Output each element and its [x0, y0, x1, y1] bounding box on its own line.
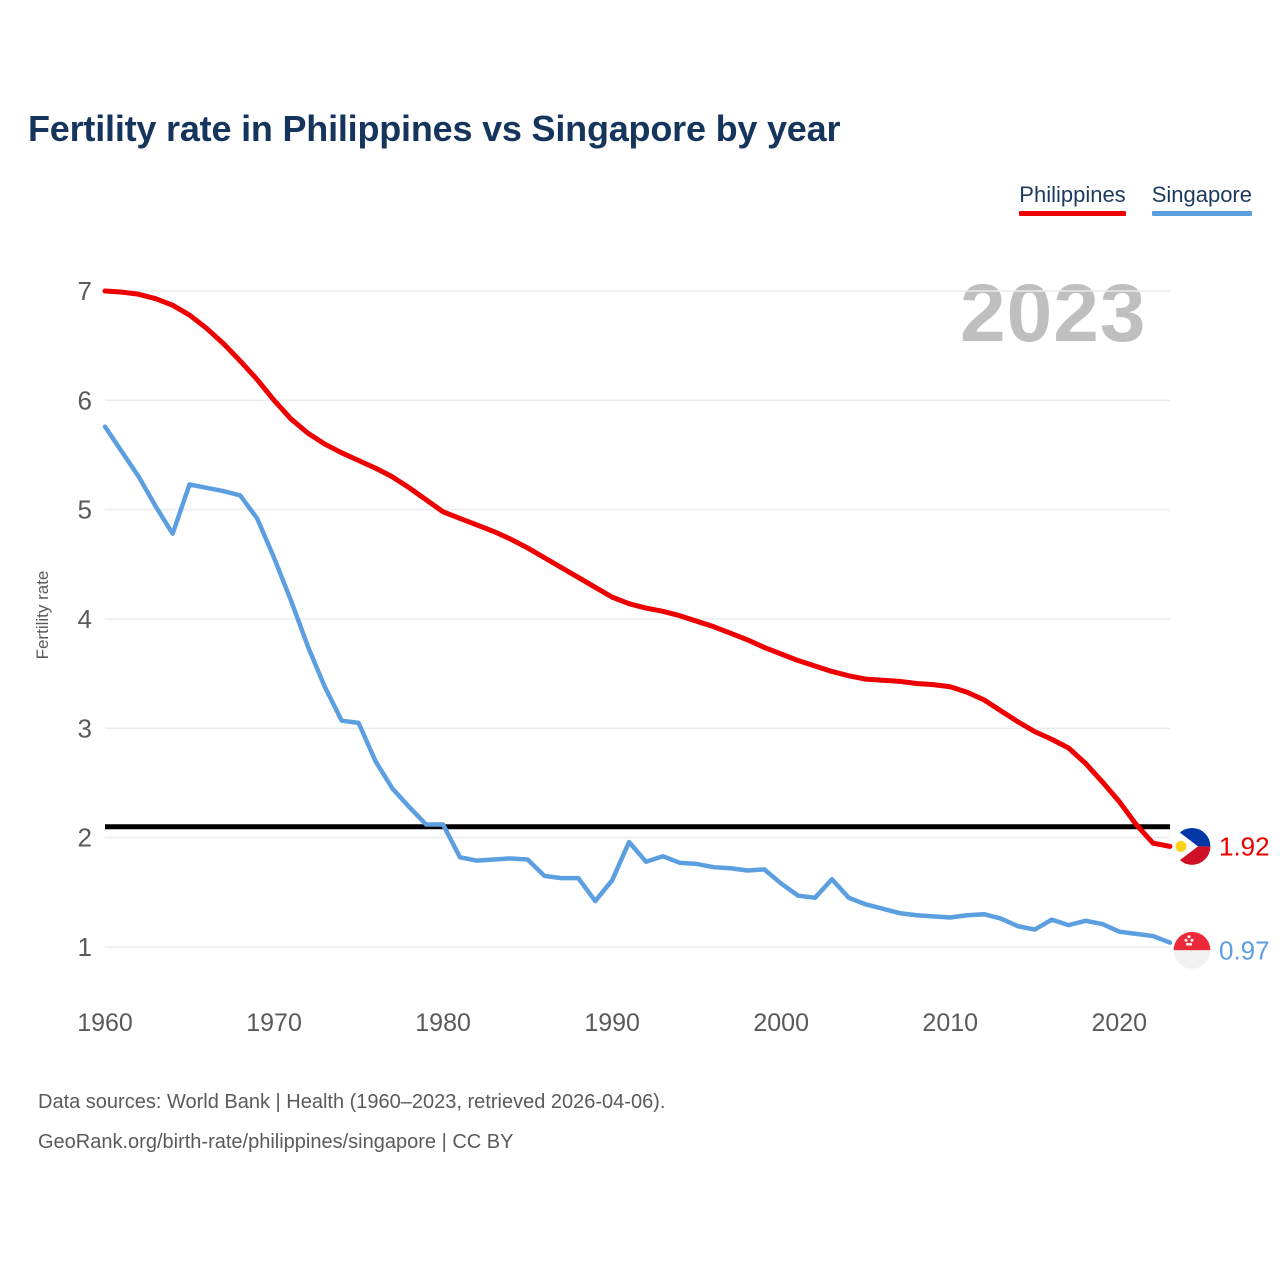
y-tick-label: 4 — [78, 604, 92, 634]
x-tick-label: 1980 — [415, 1009, 471, 1037]
philippines-end-value: 1.92 — [1219, 831, 1270, 861]
y-tick-label: 7 — [78, 276, 92, 306]
series-line-singapore — [105, 427, 1170, 943]
singapore-end-value: 0.97 — [1219, 935, 1270, 965]
x-axis-tick-labels: 1960197019801990200020102020 — [77, 1009, 1147, 1037]
singapore-flag-icon — [1173, 931, 1211, 969]
x-tick-label: 1960 — [77, 1009, 133, 1037]
x-tick-label: 1990 — [584, 1009, 640, 1037]
x-tick-label: 2000 — [753, 1009, 809, 1037]
y-tick-label: 2 — [78, 823, 92, 853]
y-tick-label: 6 — [78, 385, 92, 415]
series-line-philippines — [105, 291, 1170, 846]
y-axis-title: Fertility rate — [33, 571, 52, 660]
x-tick-label: 2010 — [922, 1009, 978, 1037]
y-tick-label: 3 — [78, 713, 92, 743]
x-tick-label: 1970 — [246, 1009, 302, 1037]
chart-page: Fertility rate in Philippines vs Singapo… — [0, 0, 1280, 1280]
footer-attribution: GeoRank.org/birth-rate/philippines/singa… — [38, 1122, 665, 1162]
y-axis-tick-labels: 1234567 — [78, 276, 92, 962]
y-tick-label: 5 — [78, 495, 92, 525]
y-tick-label: 1 — [78, 932, 92, 962]
philippines-flag-icon — [1173, 827, 1211, 865]
x-tick-label: 2020 — [1091, 1009, 1147, 1037]
footer: Data sources: World Bank | Health (1960–… — [38, 1082, 665, 1162]
footer-data-sources: Data sources: World Bank | Health (1960–… — [38, 1082, 665, 1122]
